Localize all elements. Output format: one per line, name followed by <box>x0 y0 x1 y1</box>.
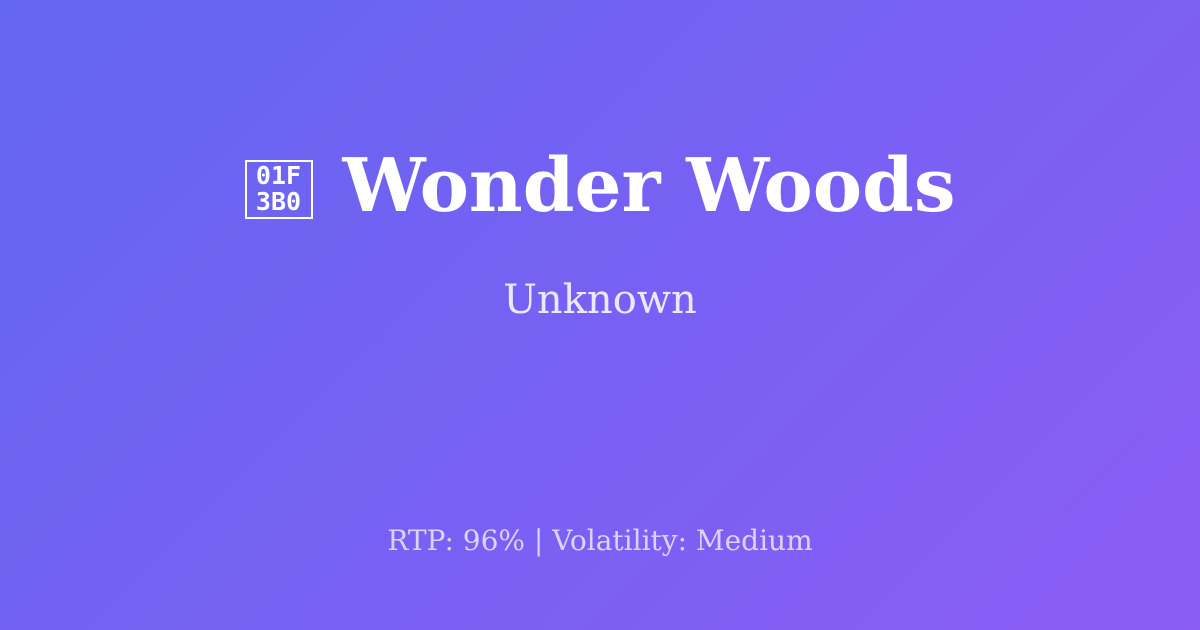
hero-section: 01F 3B0 Wonder Woods Unknown <box>0 0 1200 470</box>
provider-subtitle: Unknown <box>503 278 697 322</box>
game-stats-line: RTP: 96% | Volatility: Medium <box>387 524 812 558</box>
glyph-codepoint-bottom: 3B0 <box>256 189 301 215</box>
glyph-codepoint-top: 01F <box>256 163 301 189</box>
slot-machine-icon: 01F 3B0 <box>245 160 313 219</box>
page-title: Wonder Woods <box>343 148 956 226</box>
og-image-card: 01F 3B0 Wonder Woods Unknown RTP: 96% | … <box>0 0 1200 630</box>
title-row: 01F 3B0 Wonder Woods <box>60 148 1140 226</box>
footer-section: RTP: 96% | Volatility: Medium <box>0 524 1200 558</box>
